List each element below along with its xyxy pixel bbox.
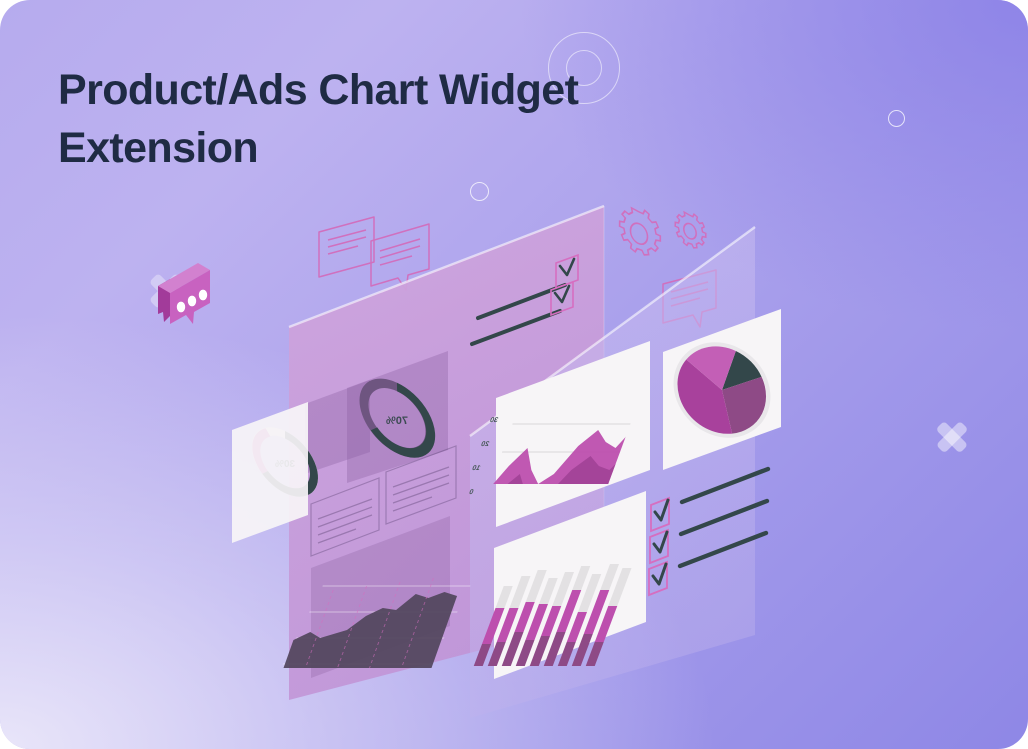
promo-card: Product/Ads Chart Widget Extension [0,0,1028,749]
page-title-line-2: Extension [58,120,858,178]
donut-70-label: 70% [386,415,408,427]
page-title-line-1: Product/Ads Chart Widget [58,62,858,120]
page-title: Product/Ads Chart Widget Extension [58,62,858,177]
